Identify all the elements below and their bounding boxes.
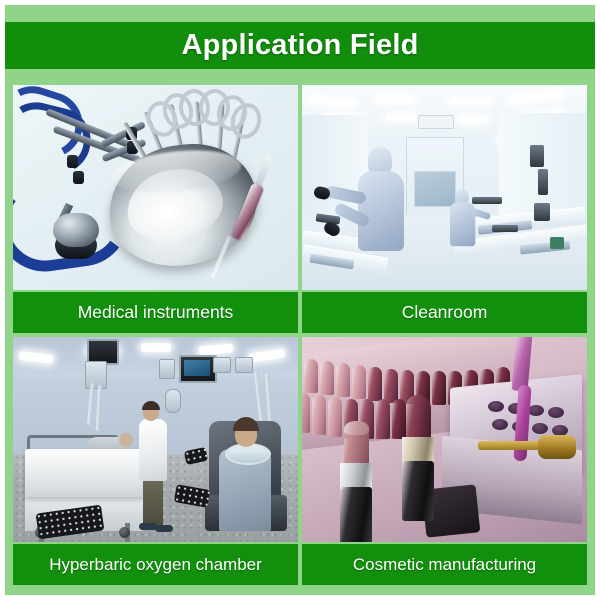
application-field-poster: Application Field — [0, 0, 600, 600]
stethoscope-chestpiece — [53, 213, 99, 247]
control-panel — [159, 359, 175, 379]
mould-cavity — [492, 419, 508, 430]
cleanroom-equipment — [530, 145, 544, 167]
worker-coverall — [358, 171, 404, 251]
lipstick-bullet — [352, 365, 366, 399]
doctor-shoe — [155, 525, 173, 532]
doctor-legs — [143, 479, 163, 525]
cleanroom-equipment — [550, 237, 564, 249]
ceiling-light-icon — [376, 97, 414, 102]
stethoscope-earpiece — [67, 155, 78, 168]
mould-wing-nut — [538, 435, 576, 459]
lipstick-bullet — [406, 395, 431, 441]
mould-cavity — [488, 401, 504, 412]
lipstick-bullet — [336, 363, 350, 397]
lipstick-bullet — [328, 397, 342, 437]
poster-panel: Application Field — [5, 5, 595, 595]
doctor-coat — [139, 419, 167, 481]
lipstick-bullet — [312, 395, 326, 435]
photo-cosmetic-manufacturing — [302, 337, 587, 542]
card-medical-instruments[interactable]: Medical instruments — [13, 85, 298, 335]
mould-cavity — [528, 405, 544, 416]
caption-label: Cosmetic manufacturing — [353, 556, 536, 573]
lipstick-metal-band — [402, 437, 434, 463]
ceiling-light-icon — [386, 115, 416, 120]
lipstick-case — [402, 461, 434, 521]
lipstick-bullet — [304, 359, 318, 393]
caption-label: Cleanroom — [402, 304, 488, 322]
lipstick-case — [340, 487, 372, 542]
gauge — [165, 389, 181, 413]
lipstick-bullet — [320, 361, 334, 395]
monitor-screen — [184, 360, 210, 376]
bed-wheel — [119, 527, 130, 538]
cleanroom-ceiling-sign — [418, 115, 454, 129]
lipstick-bullet — [302, 393, 310, 433]
ceiling-light-icon — [458, 117, 488, 122]
lipstick-bullet — [384, 369, 398, 403]
lipstick-bullet — [368, 367, 382, 401]
hospital-bed — [25, 449, 145, 497]
cleanroom-door-window — [414, 171, 456, 207]
lipstick-bullet — [432, 371, 446, 405]
photo-hyperbaric-oxygen-chamber — [13, 337, 298, 542]
card-cosmetic-manufacturing[interactable]: Cosmetic manufacturing — [302, 337, 587, 587]
lipstick-tip — [344, 421, 369, 435]
caption-label: Medical instruments — [78, 304, 234, 322]
card-cleanroom[interactable]: Cleanroom — [302, 85, 587, 335]
cleanroom-equipment — [492, 225, 518, 232]
lipstick-bullet — [376, 399, 390, 439]
wall-monitor — [179, 355, 217, 383]
caption-bar-cosmetic-manufacturing: Cosmetic manufacturing — [302, 544, 587, 585]
ceiling-light-icon — [141, 343, 171, 352]
card-hyperbaric-oxygen-chamber[interactable]: Hyperbaric oxygen chamber — [13, 337, 298, 587]
cleanroom-equipment — [472, 197, 502, 204]
cleanroom-equipment — [538, 169, 548, 195]
ceiling-light-icon — [450, 99, 490, 104]
lipstick-bullet — [392, 399, 406, 439]
page-title: Application Field — [181, 31, 418, 60]
control-panel — [213, 357, 231, 373]
lipstick-metal-band — [340, 463, 372, 489]
caption-bar-medical-instruments: Medical instruments — [13, 292, 298, 333]
header-banner: Application Field — [5, 22, 595, 69]
control-panel — [85, 361, 107, 389]
worker-coverall — [450, 202, 475, 246]
cleanroom-equipment — [534, 203, 550, 221]
control-panel — [235, 357, 253, 373]
caption-bar-cleanroom: Cleanroom — [302, 292, 587, 333]
mould-cavity — [532, 423, 548, 434]
photo-cleanroom — [302, 85, 587, 290]
caption-bar-hyperbaric-oxygen-chamber: Hyperbaric oxygen chamber — [13, 544, 298, 585]
mould-cavity — [548, 407, 564, 418]
photo-medical-instruments — [13, 85, 298, 290]
patient-head — [119, 433, 133, 447]
application-grid: Medical instruments — [13, 85, 587, 587]
caption-label: Hyperbaric oxygen chamber — [49, 556, 262, 573]
